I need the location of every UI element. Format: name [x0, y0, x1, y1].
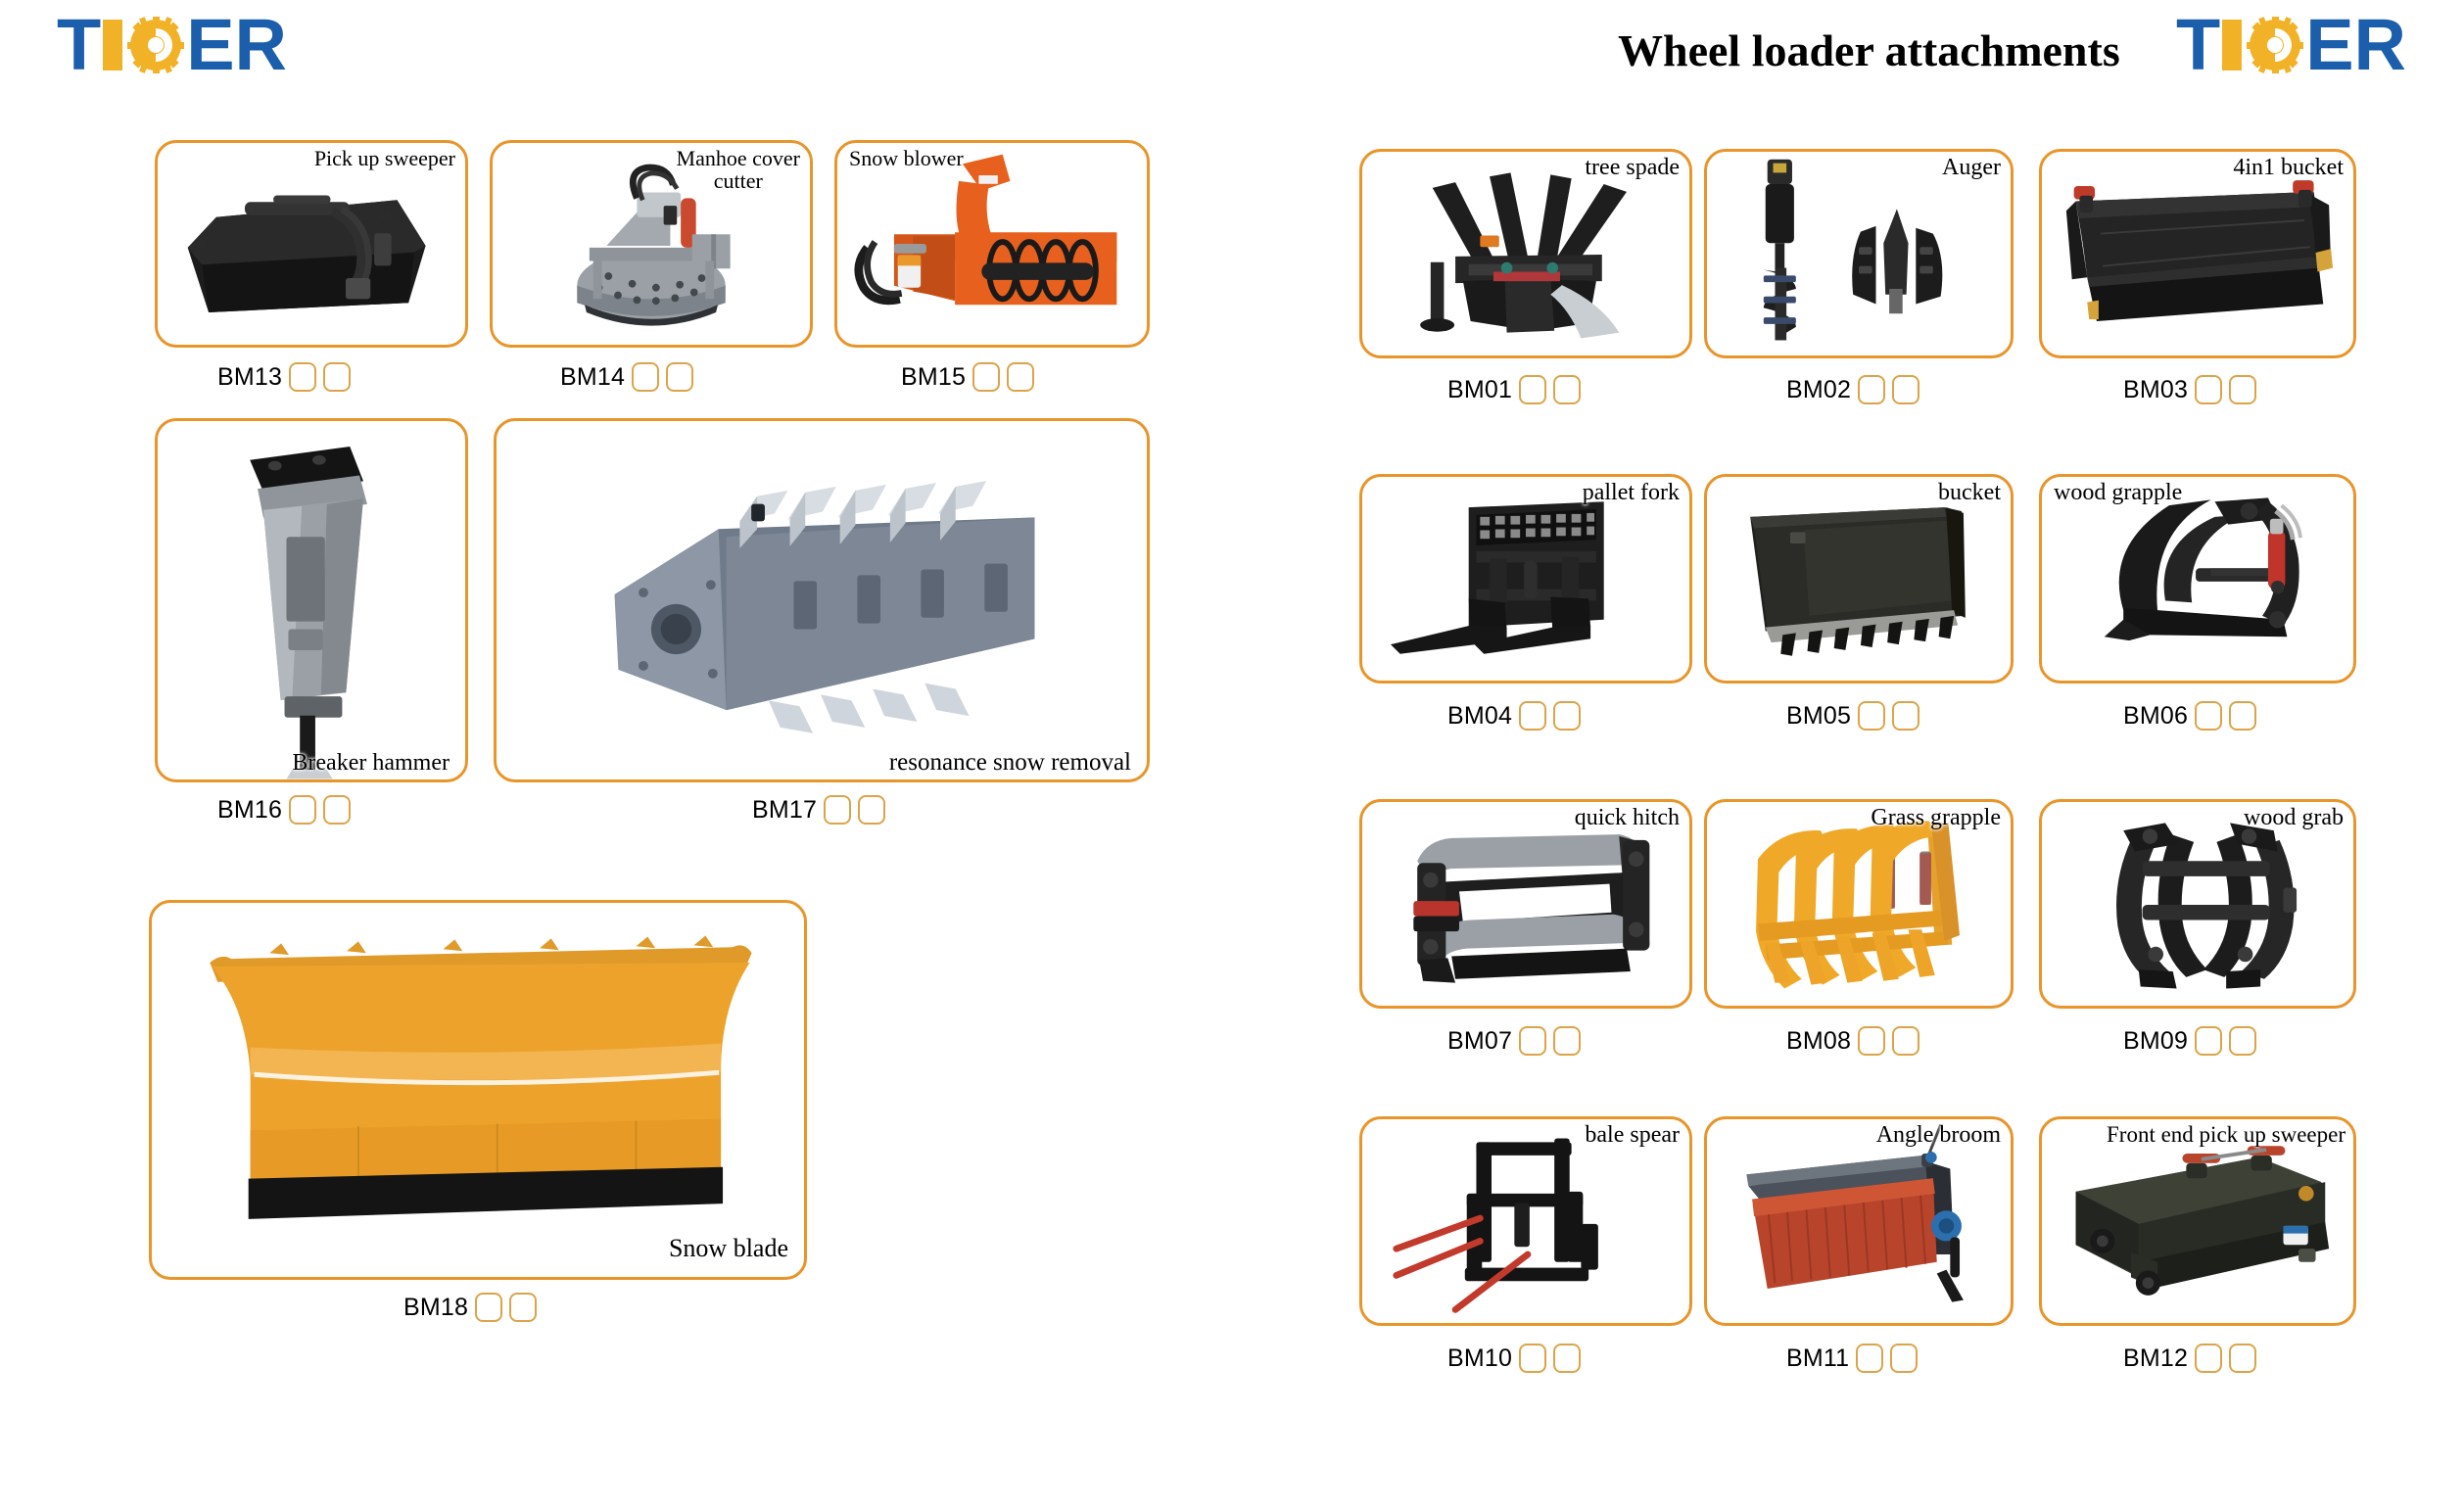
checkbox-1[interactable]: [2195, 701, 2222, 731]
code-label: BM08: [1786, 1027, 1851, 1056]
checkbox-1[interactable]: [824, 795, 851, 825]
code-label: BM17: [752, 796, 817, 825]
checkbox-2[interactable]: [1553, 1344, 1581, 1373]
card-label: pallet fork: [1583, 481, 1680, 505]
code-row-bm06: BM06: [2123, 701, 2256, 731]
logo-letter-t: T: [57, 9, 101, 81]
code-row-bm09: BM09: [2123, 1026, 2256, 1056]
code-row-bm12: BM12: [2123, 1344, 2256, 1373]
card-label: Front end pick up sweeper: [2107, 1123, 2346, 1147]
code-row-bm14: BM14: [560, 362, 693, 392]
logo-bar-i: [2222, 20, 2242, 71]
code-label: BM10: [1447, 1345, 1512, 1373]
card-bm02[interactable]: Auger: [1704, 149, 2014, 358]
checkbox-2[interactable]: [323, 362, 351, 392]
card-label: 4in1 bucket: [2233, 156, 2344, 180]
code-label: BM16: [217, 796, 282, 825]
code-row-bm10: BM10: [1447, 1344, 1581, 1373]
code-row-bm02: BM02: [1786, 375, 1919, 404]
breaker-hammer-image: [158, 421, 465, 779]
resonance-snow-removal-image: [497, 421, 1147, 779]
card-label: Breaker hammer: [292, 751, 450, 776]
code-label: BM04: [1447, 702, 1512, 731]
wood-grab-image: [2042, 802, 2353, 1006]
code-label: BM07: [1447, 1027, 1512, 1056]
code-row-bm08: BM08: [1786, 1026, 1919, 1056]
code-label: BM01: [1447, 376, 1512, 404]
code-row-bm04: BM04: [1447, 701, 1581, 731]
checkbox-2[interactable]: [509, 1293, 537, 1322]
code-row-bm05: BM05: [1786, 701, 1919, 731]
tider-logo-right: T: [2176, 18, 2406, 72]
card-bm17[interactable]: resonance snow removal: [494, 418, 1150, 782]
card-bm18[interactable]: Snow blade: [149, 900, 807, 1280]
checkbox-2[interactable]: [1892, 701, 1919, 731]
card-label: Manhoe cover cutter: [677, 147, 800, 192]
code-label: BM14: [560, 363, 625, 392]
checkbox-1[interactable]: [1856, 1344, 1883, 1373]
checkbox-2[interactable]: [858, 795, 885, 825]
card-label: tree spade: [1585, 156, 1680, 180]
snow-blade-image: [152, 903, 804, 1277]
card-bm12[interactable]: Front end pick up sweeper: [2039, 1116, 2356, 1326]
code-row-bm13: BM13: [217, 362, 351, 392]
card-label: wood grapple: [2054, 481, 2182, 505]
four-in-one-bucket-image: [2042, 152, 2353, 355]
code-label: BM05: [1786, 702, 1851, 731]
checkbox-2[interactable]: [2229, 375, 2256, 404]
checkbox-1[interactable]: [1519, 701, 1546, 731]
card-bm10[interactable]: bale spear: [1359, 1116, 1692, 1326]
logo-gear-d-icon: [127, 17, 184, 73]
checkbox-1[interactable]: [289, 795, 316, 825]
code-label: BM15: [901, 363, 966, 392]
code-row-bm11: BM11: [1786, 1344, 1918, 1373]
card-bm11[interactable]: Angle broom: [1704, 1116, 2014, 1326]
wood-grapple-image: [2042, 477, 2353, 681]
card-label: Auger: [1942, 156, 2001, 180]
checkbox-1[interactable]: [2195, 1026, 2222, 1056]
card-bm07[interactable]: quick hitch: [1359, 799, 1692, 1009]
checkbox-1[interactable]: [475, 1293, 502, 1322]
checkbox-2[interactable]: [1553, 1026, 1581, 1056]
card-label: wood grab: [2244, 806, 2344, 830]
code-row-bm18: BM18: [403, 1293, 537, 1322]
checkbox-2[interactable]: [666, 362, 693, 392]
grass-grapple-image: [1707, 802, 2011, 1006]
checkbox-1[interactable]: [2195, 1344, 2222, 1373]
snow-blower-image: [837, 143, 1147, 345]
checkbox-2[interactable]: [1007, 362, 1034, 392]
card-bm01[interactable]: tree spade: [1359, 149, 1692, 358]
checkbox-1[interactable]: [1858, 1026, 1885, 1056]
checkbox-1[interactable]: [289, 362, 316, 392]
code-label: BM03: [2123, 376, 2188, 404]
checkbox-1[interactable]: [1519, 375, 1546, 404]
card-bm08[interactable]: Grass grapple: [1704, 799, 2014, 1009]
bucket-image: [1707, 477, 2011, 681]
checkbox-2[interactable]: [2229, 1026, 2256, 1056]
card-label: bale spear: [1585, 1123, 1680, 1148]
checkbox-1[interactable]: [1519, 1026, 1546, 1056]
card-bm13[interactable]: Pick up sweeper: [155, 140, 468, 348]
card-label: Snow blade: [669, 1235, 788, 1261]
card-bm15[interactable]: Snow blower: [834, 140, 1150, 348]
front-end-pick-up-sweeper-image: [2042, 1119, 2353, 1323]
card-bm06[interactable]: wood grapple: [2039, 474, 2356, 684]
checkbox-1[interactable]: [1519, 1344, 1546, 1373]
card-label: resonance snow removal: [889, 750, 1131, 776]
auger-image: [1707, 152, 2011, 355]
code-row-bm03: BM03: [2123, 375, 2256, 404]
tree-spade-image: [1362, 152, 1689, 355]
bale-spear-image: [1362, 1119, 1689, 1323]
pallet-fork-image: [1362, 477, 1689, 681]
logo-bar-i: [103, 20, 122, 71]
card-label: Angle broom: [1876, 1123, 2001, 1148]
quick-hitch-image: [1362, 802, 1689, 1006]
checkbox-1[interactable]: [632, 362, 659, 392]
code-row-bm16: BM16: [217, 795, 351, 825]
checkbox-2[interactable]: [2229, 701, 2256, 731]
checkbox-1[interactable]: [2195, 375, 2222, 404]
code-label: BM18: [403, 1294, 468, 1322]
code-row-bm01: BM01: [1447, 375, 1581, 404]
logo-letter-t: T: [2176, 9, 2220, 81]
code-label: BM11: [1786, 1345, 1849, 1373]
logo-letters-er: ER: [2305, 9, 2406, 81]
card-label: Grass grapple: [1871, 806, 2001, 830]
card-bm16[interactable]: Breaker hammer: [155, 418, 468, 782]
card-label: Pick up sweeper: [314, 147, 455, 169]
code-label: BM06: [2123, 702, 2188, 731]
logo-gear-d-icon: [2247, 17, 2303, 73]
checkbox-2[interactable]: [1892, 375, 1919, 404]
catalog-page: T: [0, 0, 2464, 1510]
checkbox-1[interactable]: [1858, 375, 1885, 404]
code-label: BM09: [2123, 1027, 2188, 1056]
checkbox-2[interactable]: [1553, 375, 1581, 404]
pick-up-sweeper-image: [158, 143, 465, 345]
angle-broom-image: [1707, 1119, 2011, 1323]
card-label: Snow blower: [849, 147, 964, 169]
code-label: BM02: [1786, 376, 1851, 404]
code-label: BM12: [2123, 1345, 2188, 1373]
card-bm03[interactable]: 4in1 bucket: [2039, 149, 2356, 358]
page-title: Wheel loader attachments: [1618, 24, 2120, 76]
code-row-bm07: BM07: [1447, 1026, 1581, 1056]
code-row-bm15: BM15: [901, 362, 1034, 392]
checkbox-1[interactable]: [1858, 701, 1885, 731]
logo-letters-er: ER: [186, 9, 287, 81]
card-bm09[interactable]: wood grab: [2039, 799, 2356, 1009]
card-label: bucket: [1938, 481, 2001, 505]
code-label: BM13: [217, 363, 282, 392]
tider-logo-left: T: [57, 18, 287, 72]
checkbox-2[interactable]: [1890, 1344, 1918, 1373]
checkbox-1[interactable]: [972, 362, 1000, 392]
card-bm14[interactable]: Manhoe cover cutter: [490, 140, 813, 348]
card-bm04[interactable]: pallet fork: [1359, 474, 1692, 684]
card-label: quick hitch: [1575, 806, 1680, 830]
checkbox-2[interactable]: [1892, 1026, 1919, 1056]
checkbox-2[interactable]: [323, 795, 351, 825]
checkbox-2[interactable]: [2229, 1344, 2256, 1373]
code-row-bm17: BM17: [752, 795, 885, 825]
checkbox-2[interactable]: [1553, 701, 1581, 731]
card-bm05[interactable]: bucket: [1704, 474, 2014, 684]
